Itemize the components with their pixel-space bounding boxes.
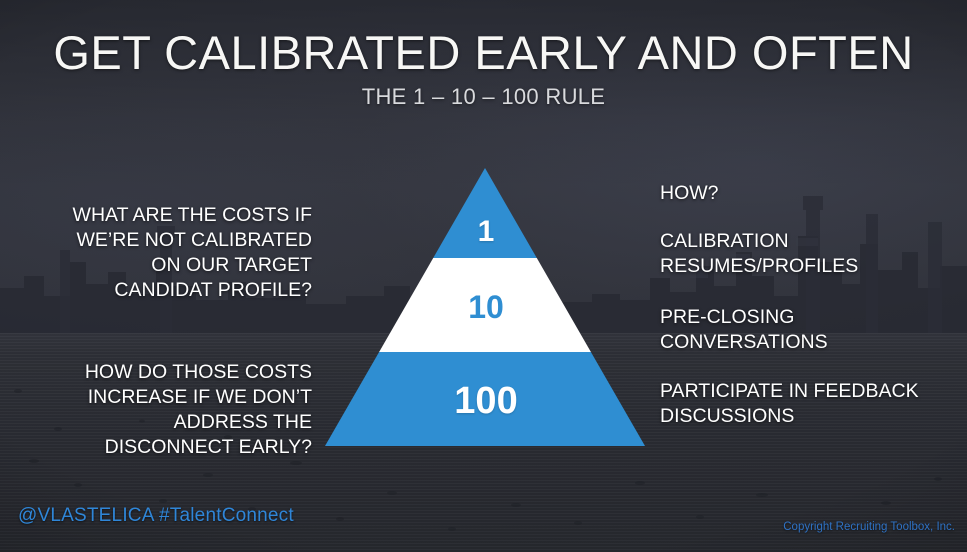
answer-pre-closing-conversations: PRE-CLOSING CONVERSATIONS [660,305,960,355]
answers-heading: HOW? [660,181,960,206]
copyright-notice: Copyright Recruiting Toolbox, Inc. [783,521,955,533]
pyramid-label-10: 10 [320,289,652,326]
pyramid-label-100: 100 [320,380,652,423]
question-costs: WHAT ARE THE COSTS IF WE’RE NOT CALIBRAT… [52,203,312,303]
slide-title: GET CALIBRATED EARLY AND OFTEN [0,27,967,79]
answer-calibration-resumes: CALIBRATION RESUMES/PROFILES [660,229,960,279]
question-cost-increase: HOW DO THOSE COSTS INCREASE IF WE DON’T … [52,360,312,460]
speaker-handle: @VLASTELICA #TalentConnect [18,505,294,527]
pyramid-diagram: 1 10 100 [320,160,652,454]
slide-subtitle: THE 1 – 10 – 100 RULE [0,84,967,110]
answer-participate-feedback: PARTICIPATE IN FEEDBACK DISCUSSIONS [660,379,960,429]
slide-canvas: GET CALIBRATED EARLY AND OFTEN THE 1 – 1… [0,0,967,552]
pyramid-label-1: 1 [320,215,652,249]
